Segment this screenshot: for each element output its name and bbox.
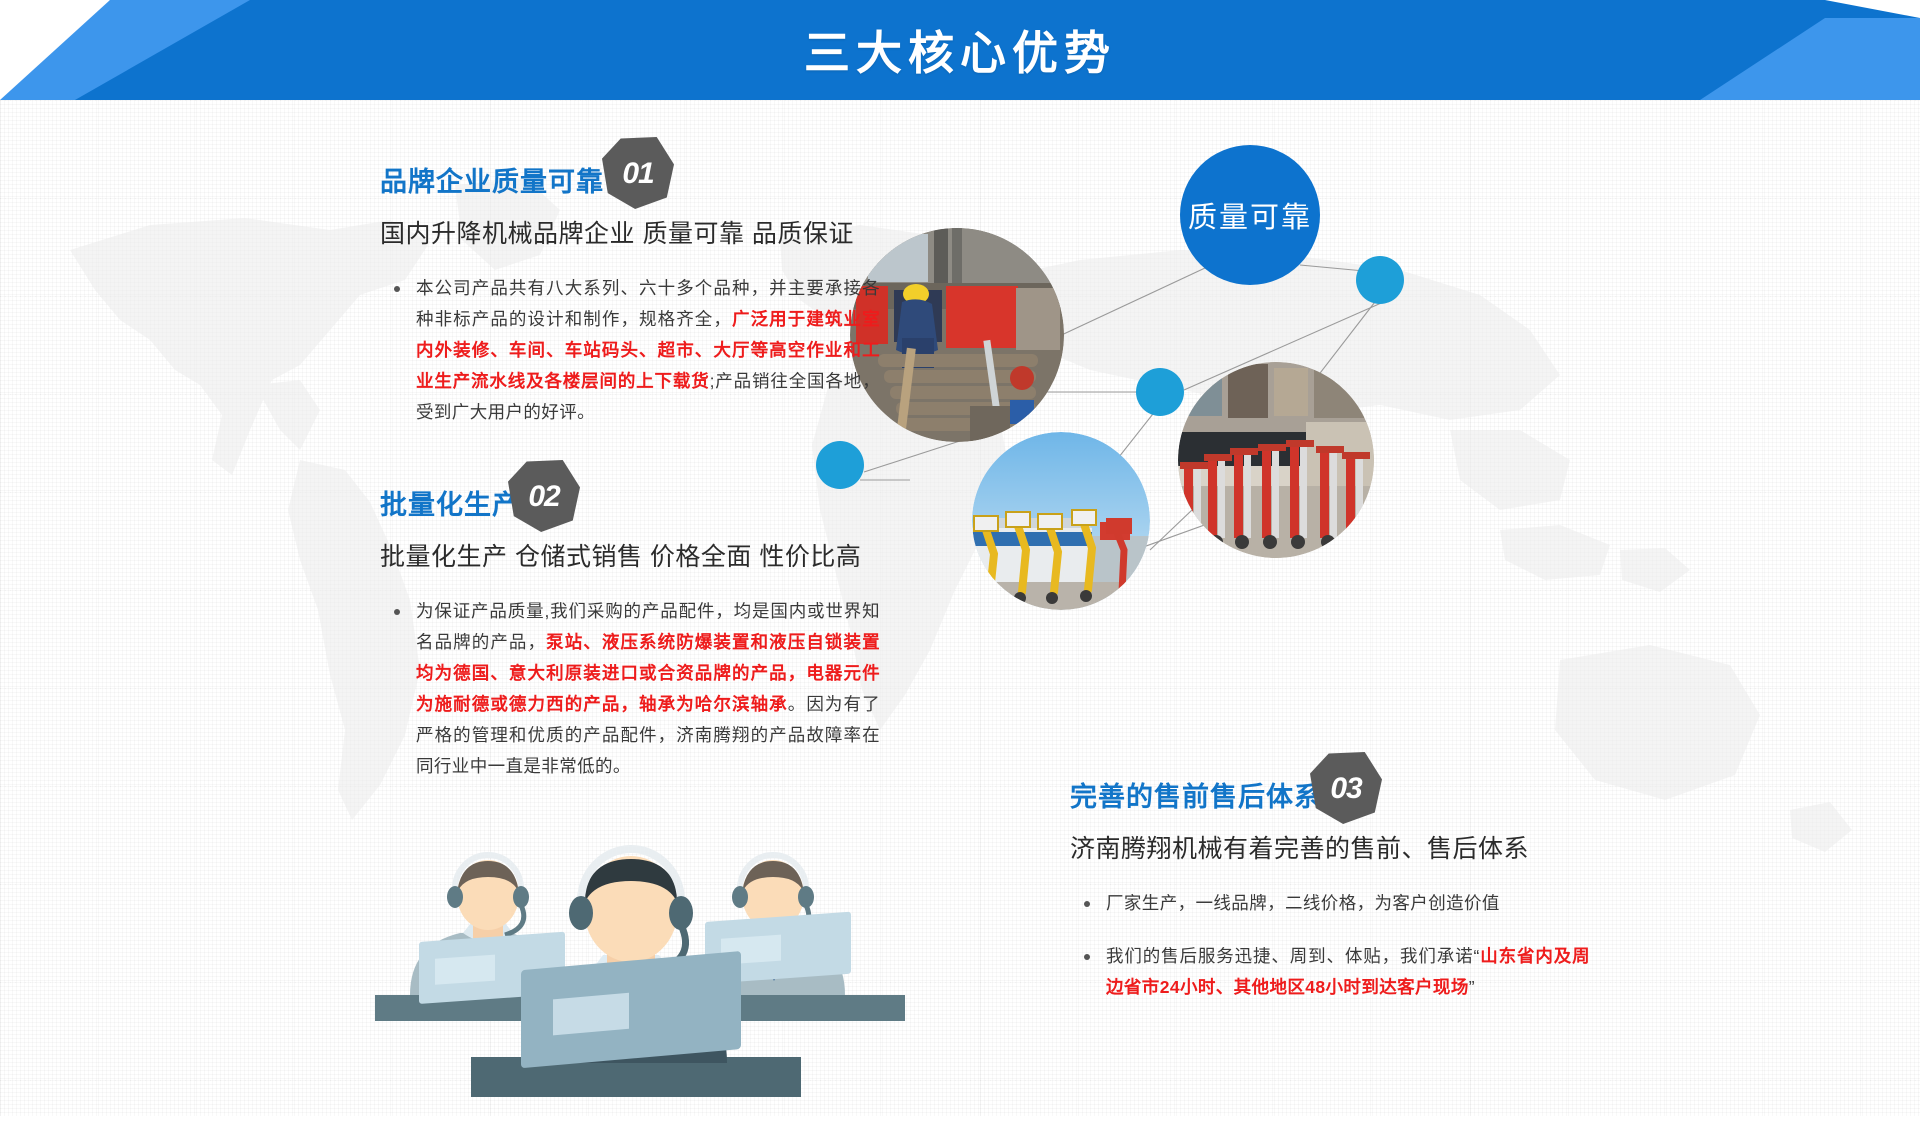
feature-block-03: 完善的售前售后体系 03 济南腾翔机械有着完善的售前、售后体系 厂家生产，一线品… [1070,780,1590,1025]
feature-02-bullet-list: 为保证产品质量,我们采购的产品配件，均是国内或世界知名品牌的产品，泵站、液压系统… [380,596,880,782]
page-title: 三大核心优势 [0,0,1920,100]
feature-01-number: 01 [622,157,653,191]
feature-02-number: 02 [528,480,559,514]
feature-02-heading-row: 批量化生产 02 [380,488,880,534]
feature-03-bullet-list: 厂家生产，一线品牌，二线价格，为客户创造价值我们的售后服务迅捷、周到、体贴，我们… [1070,888,1590,1003]
feature-block-01: 品牌企业质量可靠 01 国内升降机械品牌企业 质量可靠 品质保证 本公司产品共有… [380,165,880,450]
photo-showroom-lifts [1178,362,1374,558]
bullet-item: 厂家生产，一线品牌，二线价格，为客户创造价值 [1070,888,1590,919]
feature-03-heading-row: 完善的售前售后体系 03 [1070,780,1590,826]
page-header-banner: 三大核心优势 [0,0,1920,100]
photo-factory-workshop [850,228,1064,442]
feature-01-heading-row: 品牌企业质量可靠 01 [380,165,880,211]
call-center-agents-graphic [375,785,905,1116]
feature-03-subtitle: 济南腾翔机械有着完善的售前、售后体系 [1070,832,1590,866]
call-center-illustration [375,785,905,1116]
bullet-item: 为保证产品质量,我们采购的产品配件，均是国内或世界知名品牌的产品，泵站、液压系统… [380,596,880,782]
feature-01-bullet-list: 本公司产品共有八大系列、六十多个品种，并主要承接各种非标产品的设计和制作，规格齐… [380,273,880,428]
feature-block-02: 批量化生产 02 批量化生产 仓储式销售 价格全面 性价比高 为保证产品质量,我… [380,488,880,804]
feature-01-title: 品牌企业质量可靠 [380,165,604,199]
feature-02-title: 批量化生产 [380,488,520,522]
main-quality-node-label: 质量可靠 [1188,194,1312,236]
main-quality-node[interactable]: 质量可靠 [1180,145,1320,285]
photo-yard-lifts [972,432,1150,610]
bullet-item: 我们的售后服务迅捷、周到、体贴，我们承诺“山东省内及周边省市24小时、其他地区4… [1070,941,1590,1003]
feature-01-number-badge: 01 [602,137,674,209]
bullet-text: 我们的售后服务迅捷、周到、体贴，我们承诺“ [1106,946,1480,966]
bullet-item: 本公司产品共有八大系列、六十多个品种，并主要承接各种非标产品的设计和制作，规格齐… [380,273,880,428]
feature-01-subtitle: 国内升降机械品牌企业 质量可靠 品质保证 [380,217,880,251]
feature-03-title: 完善的售前售后体系 [1070,780,1322,814]
bullet-text: 厂家生产，一线品牌，二线价格，为客户创造价值 [1106,893,1500,913]
dot-node-upper-right[interactable] [1356,256,1404,304]
feature-02-subtitle: 批量化生产 仓储式销售 价格全面 性价比高 [380,540,880,574]
quality-network-diagram: 质量可靠 [860,150,1560,610]
feature-03-number: 03 [1330,772,1361,806]
bullet-text: ” [1469,977,1475,997]
dot-node-center[interactable] [1136,368,1184,416]
